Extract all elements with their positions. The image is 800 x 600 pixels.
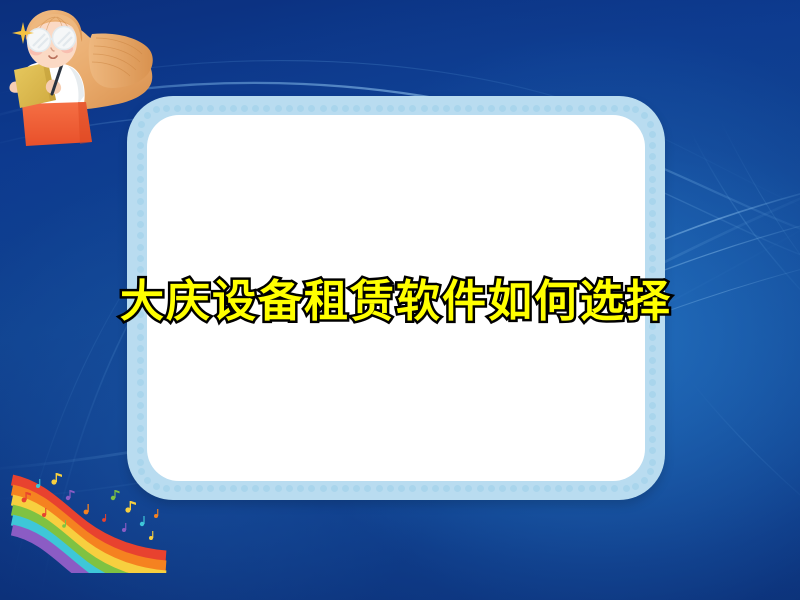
border-dot — [275, 105, 282, 112]
border-dot — [137, 391, 144, 398]
border-dot — [230, 485, 237, 492]
border-dot — [207, 105, 214, 112]
border-dot — [649, 153, 656, 160]
border-dot — [308, 105, 315, 112]
border-dot — [649, 232, 656, 239]
border-dot — [207, 485, 214, 492]
border-dot — [421, 485, 428, 492]
border-dot — [649, 198, 656, 205]
border-dot — [611, 105, 618, 112]
border-dot — [320, 105, 327, 112]
border-dot — [219, 105, 226, 112]
border-dot — [499, 485, 506, 492]
border-dot — [649, 345, 656, 352]
border-dot — [137, 187, 144, 194]
border-dot — [443, 105, 450, 112]
border-dot — [241, 105, 248, 112]
border-dot — [308, 485, 315, 492]
border-dot — [137, 459, 144, 466]
border-dot — [522, 105, 529, 112]
border-dot — [137, 379, 144, 386]
border-dot — [331, 105, 338, 112]
border-dot — [297, 485, 304, 492]
border-dot — [432, 105, 439, 112]
border-dot — [443, 485, 450, 492]
border-dot — [623, 485, 630, 492]
border-dot — [137, 357, 144, 364]
border-dot — [510, 105, 517, 112]
border-dot — [137, 345, 144, 352]
border-dot — [275, 485, 282, 492]
border-dot — [137, 210, 144, 217]
border-dot — [252, 485, 259, 492]
border-dot — [353, 105, 360, 112]
border-dot — [578, 485, 585, 492]
border-dot — [137, 413, 144, 420]
border-dot — [409, 105, 416, 112]
rainbow-ribbon-with-music-notes — [8, 468, 188, 573]
border-dot — [544, 105, 551, 112]
border-dot — [566, 105, 573, 112]
border-dot — [137, 176, 144, 183]
border-dot — [649, 368, 656, 375]
border-dot — [137, 436, 144, 443]
border-dot — [137, 232, 144, 239]
border-dot — [137, 402, 144, 409]
border-dot — [600, 485, 607, 492]
border-dot — [196, 105, 203, 112]
border-dot — [649, 210, 656, 217]
border-dot — [263, 485, 270, 492]
border-dot — [555, 105, 562, 112]
border-dot — [566, 485, 573, 492]
border-dot — [477, 105, 484, 112]
border-dot — [649, 447, 656, 454]
border-dot — [185, 105, 192, 112]
border-dot — [611, 485, 618, 492]
border-dot — [342, 105, 349, 112]
border-dot — [387, 485, 394, 492]
border-dot — [454, 485, 461, 492]
border-dot — [649, 255, 656, 262]
border-dot — [137, 368, 144, 375]
slide-canvas: 大庆设备租赁软件如何选择 — [0, 0, 800, 600]
border-dot — [353, 485, 360, 492]
border-dot — [137, 221, 144, 228]
border-dot — [398, 485, 405, 492]
border-dot — [600, 105, 607, 112]
border-dot — [649, 357, 656, 364]
border-dot — [252, 105, 259, 112]
border-dot — [649, 425, 656, 432]
border-dot — [647, 468, 654, 475]
border-dot — [409, 485, 416, 492]
border-dot — [320, 485, 327, 492]
border-dot — [589, 485, 596, 492]
border-dot — [649, 187, 656, 194]
border-dot — [533, 105, 540, 112]
border-dot — [465, 485, 472, 492]
border-dot — [137, 255, 144, 262]
border-dot — [465, 105, 472, 112]
border-dot — [137, 447, 144, 454]
border-dot — [286, 105, 293, 112]
border-dot — [649, 402, 656, 409]
border-dot — [649, 221, 656, 228]
border-dot — [137, 334, 144, 341]
border-dot — [647, 121, 654, 128]
border-dot — [342, 485, 349, 492]
border-dot — [454, 105, 461, 112]
border-dot — [649, 436, 656, 443]
border-dot — [230, 105, 237, 112]
border-dot — [219, 485, 226, 492]
border-dot — [499, 105, 506, 112]
title-area: 大庆设备租赁软件如何选择 — [127, 262, 665, 332]
border-dot — [364, 105, 371, 112]
border-dot — [488, 485, 495, 492]
border-dot — [555, 485, 562, 492]
border-dot — [649, 459, 656, 466]
border-dot — [398, 105, 405, 112]
border-dot — [641, 112, 648, 119]
border-dot — [623, 105, 630, 112]
border-dot — [544, 485, 551, 492]
border-dot — [432, 485, 439, 492]
border-dot — [533, 485, 540, 492]
border-dot — [376, 105, 383, 112]
border-dot — [387, 105, 394, 112]
border-dot — [331, 485, 338, 492]
border-dot — [649, 142, 656, 149]
border-dot — [641, 477, 648, 484]
border-dot — [589, 105, 596, 112]
border-dot — [137, 425, 144, 432]
border-dot — [488, 105, 495, 112]
border-dot — [522, 485, 529, 492]
border-dot — [241, 485, 248, 492]
border-dot — [649, 131, 656, 138]
border-dot — [263, 105, 270, 112]
border-dot — [297, 105, 304, 112]
star-sparkle-icon — [12, 22, 34, 44]
border-dot — [649, 334, 656, 341]
border-dot — [421, 105, 428, 112]
border-dot — [649, 379, 656, 386]
border-dot — [286, 485, 293, 492]
border-dot — [196, 485, 203, 492]
border-dot — [578, 105, 585, 112]
border-dot — [649, 176, 656, 183]
border-dot — [649, 244, 656, 251]
border-dot — [632, 106, 639, 113]
border-dot — [649, 164, 656, 171]
border-dot — [649, 413, 656, 420]
border-dot — [649, 391, 656, 398]
border-dot — [632, 483, 639, 490]
border-dot — [174, 105, 181, 112]
border-dot — [137, 244, 144, 251]
border-dot — [137, 198, 144, 205]
border-dot — [510, 485, 517, 492]
page-title: 大庆设备租赁软件如何选择 — [120, 265, 672, 329]
border-dot — [364, 485, 371, 492]
border-dot — [477, 485, 484, 492]
border-dot — [376, 485, 383, 492]
